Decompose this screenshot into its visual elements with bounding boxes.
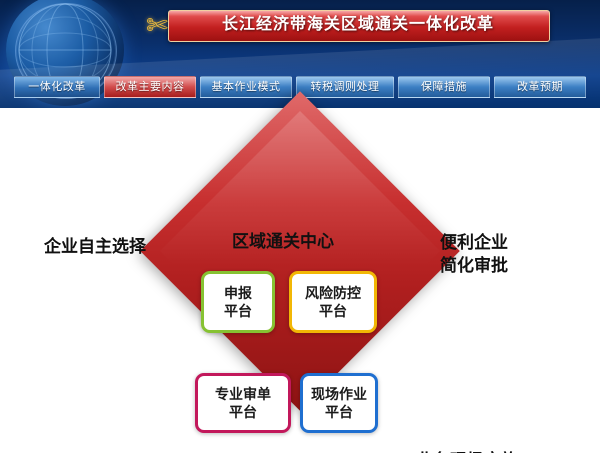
slide-body: 区域通关中心 企业自主选择 便利企业 简化审批 按照商品分工 跨关区专业审单 业… [0,108,600,453]
platform-professional-review-line1: 专业审单 [215,385,271,403]
platform-declaration-line2: 平台 [224,302,252,320]
label-enterprise-choice: 企业自主选择 [44,235,146,258]
tab-main-content[interactable]: 改革主要内容 [104,76,196,98]
platform-risk-control[interactable]: 风险防控 平台 [289,271,377,333]
tab-tax-handling[interactable]: 转税调则处理 [296,76,394,98]
label-convenience: 便利企业 简化审批 [440,231,508,277]
platform-declaration-line1: 申报 [224,284,252,302]
platform-declaration[interactable]: 申报 平台 [201,271,275,333]
tab-safeguards[interactable]: 保障措施 [398,76,490,98]
platform-professional-review-line2: 平台 [229,403,257,421]
platform-risk-control-line2: 平台 [319,302,347,320]
platform-professional-review[interactable]: 专业审单 平台 [195,373,291,433]
page-title: 长江经济带海关区域通关一体化改革 [168,10,548,40]
tab-basic-mode[interactable]: 基本作业模式 [200,76,292,98]
platform-onsite-operation-line1: 现场作业 [311,385,367,403]
label-field-operations-line1: 业务现场实施 [416,449,527,453]
platform-risk-control-line1: 风险防控 [305,284,361,302]
tab-expected-results[interactable]: 改革预期 [494,76,586,98]
tab-overall-reform[interactable]: 一体化改革 [14,76,100,98]
center-title: 区域通关中心 [232,230,334,253]
platform-onsite-operation-line2: 平台 [325,403,353,421]
label-field-operations: 业务现场实施 接单 征税 查验 卡口核放 [416,449,527,453]
platform-onsite-operation[interactable]: 现场作业 平台 [300,373,378,433]
label-convenience-line2: 简化审批 [440,254,508,277]
label-convenience-line1: 便利企业 [440,231,508,254]
slide: ✄ 长江经济带海关区域通关一体化改革 一体化改革 改革主要内容 基本作业模式 转… [0,0,600,453]
